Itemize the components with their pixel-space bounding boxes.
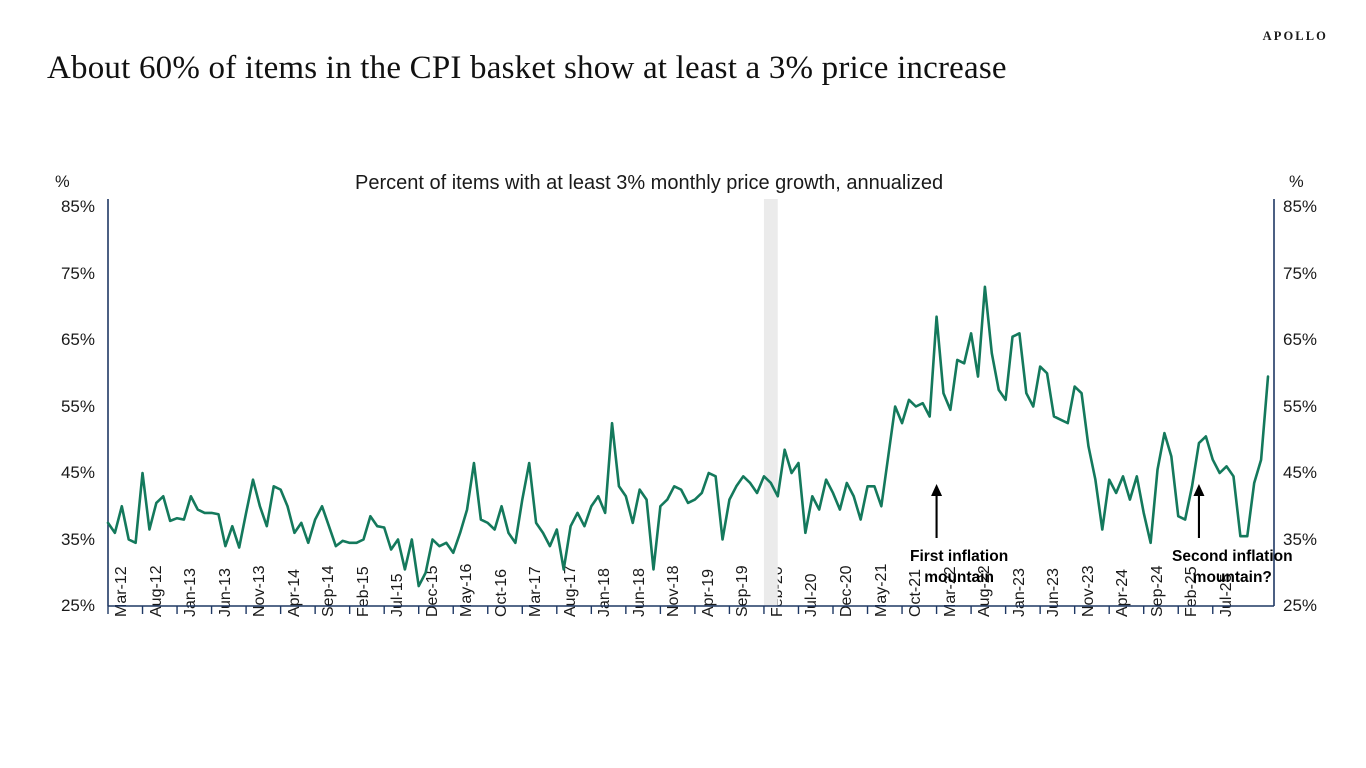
annotation-arrow-second bbox=[1193, 484, 1204, 538]
annotation-second-inflation-mountain: Second inflation mountain? bbox=[1172, 547, 1293, 589]
annotation-line-1: Second inflation bbox=[1172, 547, 1293, 568]
annotation-line-2: mountain bbox=[910, 568, 1008, 589]
recession-shading-band bbox=[764, 199, 778, 606]
annotation-line-1: First inflation bbox=[910, 547, 1008, 568]
annotation-line-2: mountain? bbox=[1172, 568, 1293, 589]
annotation-arrow-first-head bbox=[931, 484, 942, 496]
annotation-first-inflation-mountain: First inflation mountain bbox=[910, 547, 1008, 589]
data-series-line bbox=[108, 287, 1268, 586]
line-plot bbox=[0, 0, 1366, 768]
annotation-arrow-second-head bbox=[1193, 484, 1204, 496]
annotation-arrow-first bbox=[931, 484, 942, 538]
chart-container: Percent of items with at least 3% monthl… bbox=[0, 0, 1366, 768]
